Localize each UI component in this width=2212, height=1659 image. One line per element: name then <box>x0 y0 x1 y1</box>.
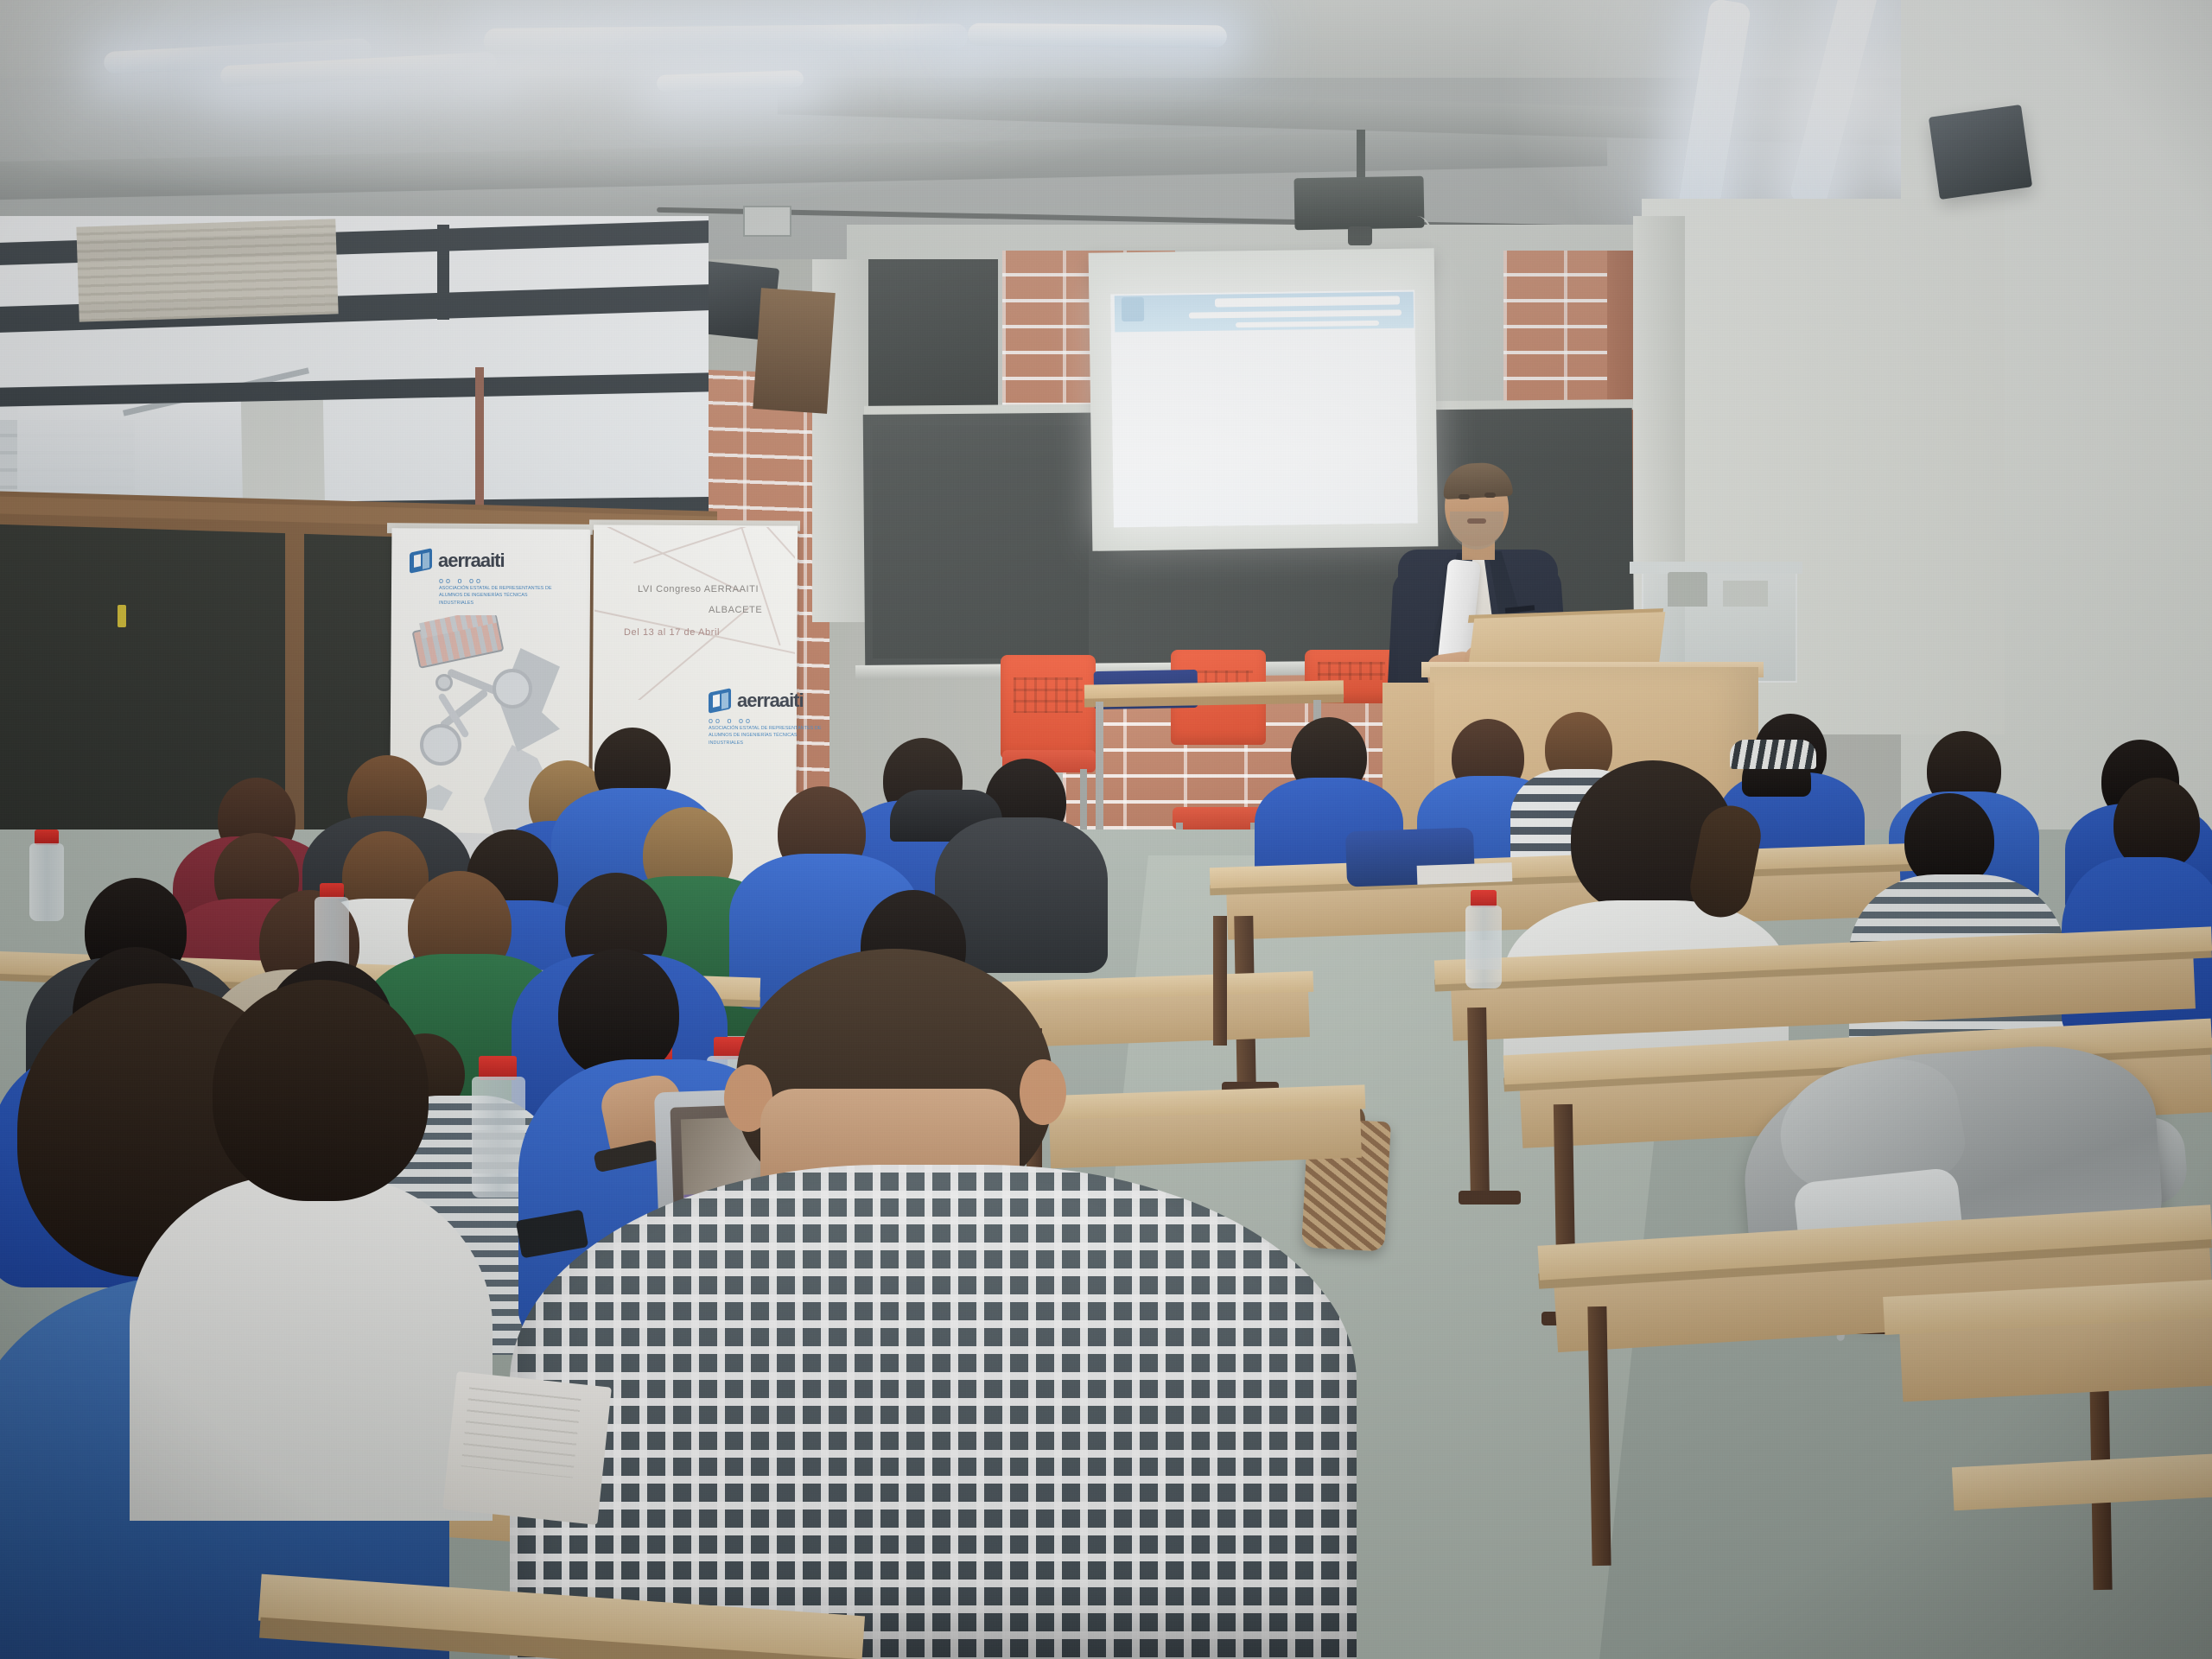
banner-logo: aerraaiti <box>408 548 505 574</box>
banner-city: ALBACETE <box>709 605 762 615</box>
presenter-eye <box>1459 494 1470 499</box>
slide-logo-icon <box>1122 297 1144 321</box>
audience-cap <box>1730 740 1816 769</box>
banner-logo-subtext: oo o oo ASOCIACIÓN ESTATAL DE REPRESENTA… <box>709 717 829 747</box>
presenter-eye <box>1484 493 1496 498</box>
blackboard <box>873 425 1089 658</box>
table-leg <box>1096 702 1103 844</box>
projector-lens-icon <box>1348 226 1372 245</box>
wall-speaker-bracket <box>753 288 836 414</box>
banner-logo-subtext: oo o oo ASOCIACIÓN ESTATAL DE REPRESENTA… <box>439 577 560 607</box>
case-object <box>1723 581 1768 607</box>
ceiling-junction-box <box>743 206 791 237</box>
foreground-person-torso <box>130 1175 493 1521</box>
aerraaiti-logo-icon <box>707 688 733 714</box>
banner-logo-dots: oo o oo <box>709 717 829 725</box>
banner-logo-dots: oo o oo <box>439 577 560 585</box>
banner-logo: aerraaiti <box>707 688 804 714</box>
window-blinds <box>76 219 338 321</box>
foreground-person-ear <box>1020 1059 1066 1125</box>
bottle-label <box>1466 940 1501 969</box>
glass-case-top <box>1630 562 1802 574</box>
desk-foot <box>1459 1191 1521 1205</box>
window-mullion <box>437 225 449 320</box>
handout-text-lines <box>461 1387 582 1478</box>
bottle-label <box>473 1130 524 1173</box>
window-mullion <box>475 367 484 523</box>
presenter-mouth <box>1467 518 1486 524</box>
blackboard <box>868 259 998 406</box>
light-glow <box>0 0 1296 225</box>
banner-logo-subtitle: ASOCIACIÓN ESTATAL DE REPRESENTANTES DE … <box>439 585 560 607</box>
bottle-body <box>29 843 64 921</box>
wall-marker <box>118 605 126 627</box>
banner-logo-word: aerraaiti <box>438 551 505 570</box>
banner-congress-title: LVI Congreso AERRAAITI <box>638 584 759 594</box>
chair-perforations <box>1014 677 1082 713</box>
desk-leg <box>1467 1007 1490 1198</box>
chair-perforations <box>1318 662 1385 680</box>
chair-backrest <box>1001 655 1096 759</box>
case-object <box>1668 572 1707 607</box>
wall-speaker <box>1929 105 2032 200</box>
foreground-person-head <box>213 980 429 1201</box>
notebook <box>1417 862 1513 885</box>
banner-logo-subtitle: ASOCIACIÓN ESTATAL DE REPRESENTANTES DE … <box>709 725 829 747</box>
banner-logo-word: aerraaiti <box>737 691 804 710</box>
banner-dates: Del 13 al 17 de Abril <box>624 627 720 638</box>
desk-leg <box>1213 916 1227 1046</box>
banner-map-graphic <box>594 527 795 700</box>
foreground-person-checked-shirt <box>510 1165 1357 1659</box>
bottle-cap <box>1471 890 1497 907</box>
aerraaiti-logo-icon <box>408 548 434 574</box>
lecture-hall-photo: aerraaiti oo o oo ASOCIACIÓN ESTATAL DE … <box>0 0 2212 1659</box>
